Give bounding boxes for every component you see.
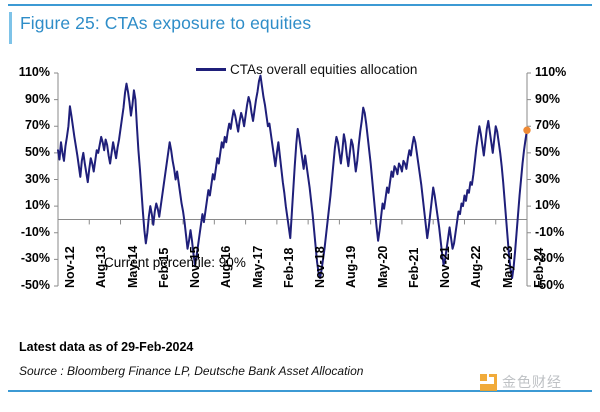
y-axis-tick-left: 90%: [4, 92, 50, 106]
y-axis-tick-left: 70%: [4, 118, 50, 132]
watermark-label: 金色财经: [502, 372, 562, 392]
y-axis-tick-right: 30%: [535, 172, 581, 186]
header-rule: [8, 4, 592, 6]
x-axis-tick: May-20: [376, 246, 390, 288]
y-axis-tick-right: 70%: [535, 118, 581, 132]
title-accent-bar: [9, 12, 12, 44]
current-percentile-annotation: Current percentile: 90%: [104, 255, 246, 270]
chart-legend: CTAs overall equities allocation: [196, 62, 417, 77]
page-title: Figure 25: CTAs exposure to equities: [20, 13, 311, 34]
x-axis-tick: Feb-24: [532, 248, 546, 288]
y-axis-tick-left: -50%: [4, 278, 50, 292]
y-axis-tick-right: 50%: [535, 145, 581, 159]
x-axis-tick: May-23: [501, 246, 515, 288]
y-axis-tick-left: 30%: [4, 172, 50, 186]
y-axis-tick-left: -10%: [4, 225, 50, 239]
legend-swatch-cta-allocation: [196, 68, 226, 71]
x-axis-tick: Feb-18: [282, 248, 296, 288]
jinse-logo-icon: [480, 374, 497, 391]
x-axis-tick: Aug-22: [469, 246, 483, 288]
legend-label-cta-allocation: CTAs overall equities allocation: [230, 62, 417, 77]
x-axis-tick: Nov-18: [313, 246, 327, 288]
y-axis-tick-right: 110%: [535, 65, 581, 79]
y-axis-tick-left: -30%: [4, 251, 50, 265]
y-axis-tick-left: 10%: [4, 198, 50, 212]
y-axis-tick-left: 110%: [4, 65, 50, 79]
x-axis-tick: Aug-19: [344, 246, 358, 288]
y-axis-tick-left: 50%: [4, 145, 50, 159]
y-axis-tick-right: 10%: [535, 198, 581, 212]
y-axis-tick-right: 90%: [535, 92, 581, 106]
chart-plot-area: 110%110%90%90%70%70%50%50%30%30%10%10%-1…: [0, 55, 600, 295]
x-axis-tick: Nov-21: [438, 246, 452, 288]
latest-data-note: Latest data as of 29-Feb-2024: [19, 340, 193, 354]
x-axis-tick: May-17: [251, 246, 265, 288]
y-axis-tick-right: -10%: [535, 225, 581, 239]
x-axis-tick: Nov-12: [63, 246, 77, 288]
source-note: Source : Bloomberg Finance LP, Deutsche …: [19, 364, 363, 378]
figure-card: Figure 25: CTAs exposure to equities 110…: [0, 0, 600, 412]
x-axis-tick: Feb-21: [407, 248, 421, 288]
watermark: 金色财经: [480, 372, 562, 392]
